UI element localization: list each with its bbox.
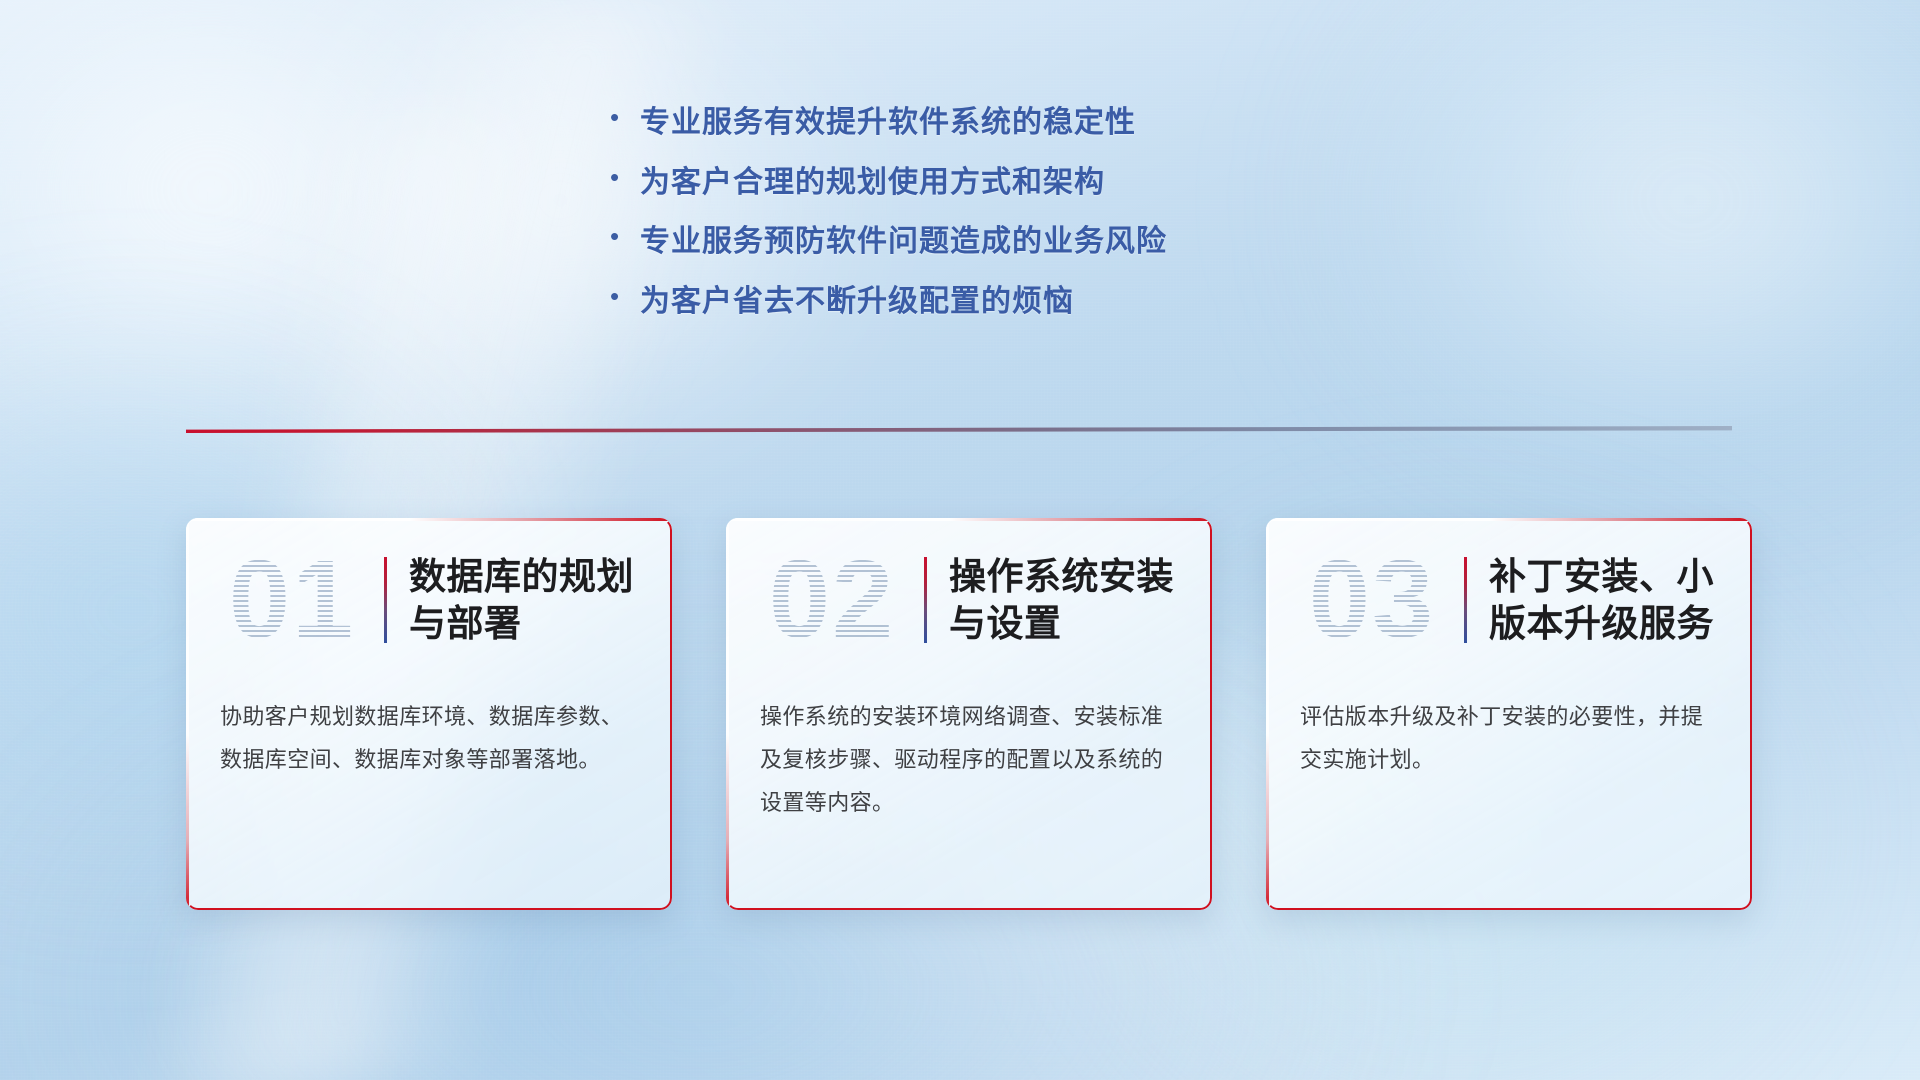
service-cards: 01 数据库的规划与部署 协助客户规划数据库环境、数据库参数、数据库空间、数据库… <box>186 518 1752 910</box>
card-header: 03 补丁安装、小版本升级服务 <box>1266 518 1752 682</box>
card-divider-bar <box>384 557 387 643</box>
card-divider-bar <box>924 557 927 643</box>
card-header: 02 操作系统安装与设置 <box>726 518 1212 682</box>
divider-line <box>186 426 1732 433</box>
card-number-watermark: 02 <box>744 545 920 655</box>
bullet-icon: • <box>610 283 640 309</box>
list-item-label: 为客户合理的规划使用方式和架构 <box>640 164 1105 202</box>
list-item-label: 专业服务预防软件问题造成的业务风险 <box>640 223 1167 261</box>
bullet-icon: • <box>610 164 640 190</box>
bullet-icon: • <box>610 223 640 249</box>
card-description: 评估版本升级及补丁安装的必要性，并提交实施计划。 <box>1266 682 1752 782</box>
card-header: 01 数据库的规划与部署 <box>186 518 672 682</box>
section-divider <box>186 424 1732 440</box>
card-description: 操作系统的安装环境网络调查、安装标准及复核步骤、驱动程序的配置以及系统的设置等内… <box>726 682 1212 825</box>
card-title: 补丁安装、小版本升级服务 <box>1489 553 1726 648</box>
card-number-watermark: 01 <box>204 545 380 655</box>
list-item: • 为客户合理的规划使用方式和架构 <box>610 164 1310 202</box>
card-divider-bar <box>1464 557 1467 643</box>
service-card-03[interactable]: 03 补丁安装、小版本升级服务 评估版本升级及补丁安装的必要性，并提交实施计划。 <box>1266 518 1752 910</box>
list-item: • 专业服务预防软件问题造成的业务风险 <box>610 223 1310 261</box>
card-title: 操作系统安装与设置 <box>949 553 1186 648</box>
list-item: • 专业服务有效提升软件系统的稳定性 <box>610 104 1310 142</box>
list-item-label: 专业服务有效提升软件系统的稳定性 <box>640 104 1136 142</box>
service-card-01[interactable]: 01 数据库的规划与部署 协助客户规划数据库环境、数据库参数、数据库空间、数据库… <box>186 518 672 910</box>
card-description: 协助客户规划数据库环境、数据库参数、数据库空间、数据库对象等部署落地。 <box>186 682 672 782</box>
bullet-icon: • <box>610 104 640 130</box>
list-item: • 为客户省去不断升级配置的烦恼 <box>610 283 1310 321</box>
benefits-list: • 专业服务有效提升软件系统的稳定性 • 为客户合理的规划使用方式和架构 • 专… <box>0 104 1920 342</box>
card-title: 数据库的规划与部署 <box>409 553 646 648</box>
service-card-02[interactable]: 02 操作系统安装与设置 操作系统的安装环境网络调查、安装标准及复核步骤、驱动程… <box>726 518 1212 910</box>
list-item-label: 为客户省去不断升级配置的烦恼 <box>640 283 1074 321</box>
card-number-watermark: 03 <box>1284 545 1460 655</box>
